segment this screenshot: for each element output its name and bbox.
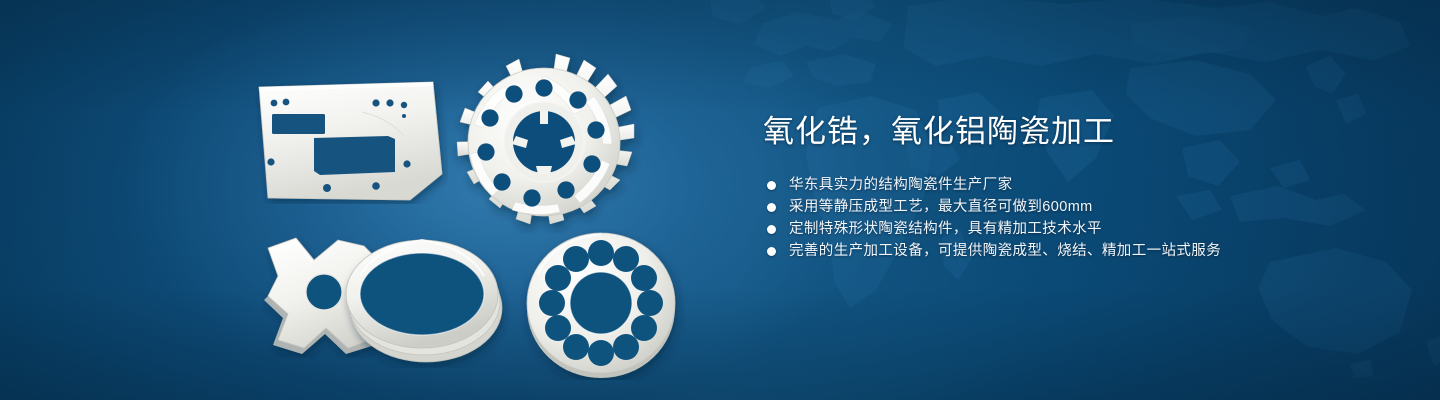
- feature-text: 华东具实力的结构陶瓷件生产厂家: [789, 174, 1013, 196]
- ceramic-plate-image: [252, 78, 448, 204]
- list-item: 采用等静压成型工艺，最大直径可做到600mm: [767, 196, 1383, 218]
- page-title: 氧化锆，氧化铝陶瓷加工: [763, 112, 1383, 152]
- promo-banner: 氧化锆，氧化铝陶瓷加工 华东具实力的结构陶瓷件生产厂家 采用等静压成型工艺，最大…: [0, 0, 1440, 400]
- bullet-icon: [767, 181, 776, 190]
- feature-list: 华东具实力的结构陶瓷件生产厂家 采用等静压成型工艺，最大直径可做到600mm 定…: [763, 174, 1383, 262]
- bullet-icon: [767, 225, 776, 234]
- feature-text: 完善的生产加工设备，可提供陶瓷成型、烧结、精加工一站式服务: [789, 240, 1221, 262]
- bullet-icon: [767, 247, 776, 256]
- banner-content: 氧化锆，氧化铝陶瓷加工 华东具实力的结构陶瓷件生产厂家 采用等静压成型工艺，最大…: [763, 112, 1383, 262]
- feature-text: 定制特殊形状陶瓷结构件，具有精加工技术水平: [789, 218, 1102, 240]
- feature-text: 采用等静压成型工艺，最大直径可做到600mm: [789, 196, 1093, 218]
- ceramic-impeller-image: [444, 48, 644, 234]
- ceramic-rings-image: [336, 228, 516, 368]
- ceramic-perforated-disc-image: [516, 226, 686, 380]
- list-item: 完善的生产加工设备，可提供陶瓷成型、烧结、精加工一站式服务: [767, 240, 1383, 262]
- list-item: 定制特殊形状陶瓷结构件，具有精加工技术水平: [767, 218, 1383, 240]
- list-item: 华东具实力的结构陶瓷件生产厂家: [767, 174, 1383, 196]
- bullet-icon: [767, 203, 776, 212]
